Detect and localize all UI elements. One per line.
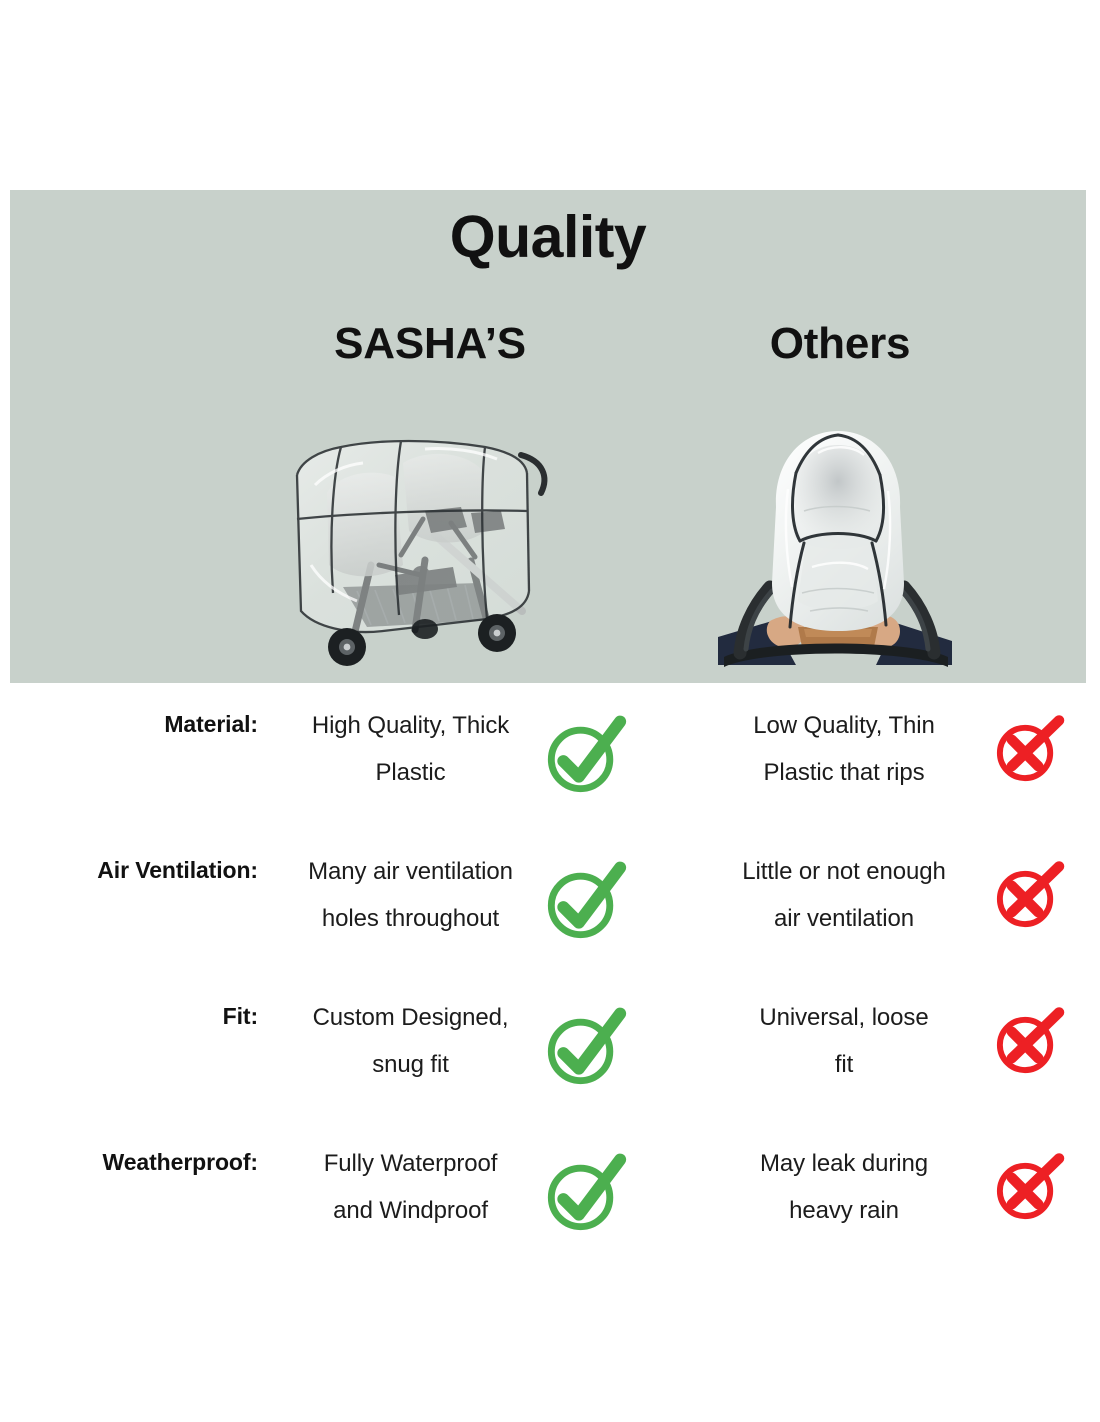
green-check-circle-icon (541, 859, 627, 945)
sashas-stroller-rain-cover-photo (275, 415, 575, 670)
comparison-infographic: Quality SASHA’S Others (0, 0, 1100, 1422)
cell-line-2: snug fit (268, 1042, 553, 1089)
cell-sashas-air-ventilation: Many air ventilation holes throughout (268, 849, 553, 943)
green-check-circle-icon (541, 713, 627, 799)
cell-line-2: and Windproof (268, 1188, 553, 1235)
cell-line-2: fit (700, 1042, 988, 1089)
table-row: Air Ventilation: Many air ventilation ho… (0, 829, 1100, 975)
cell-line-2: Plastic that rips (700, 750, 988, 797)
green-check-circle-icon (541, 1005, 627, 1091)
cell-others-weatherproof: May leak during heavy rain (700, 1141, 988, 1235)
header-panel: Quality SASHA’S Others (10, 190, 1086, 683)
red-x-circle-icon (991, 859, 1065, 933)
cell-sashas-weatherproof: Fully Waterproof and Windproof (268, 1141, 553, 1235)
cell-line-2: holes throughout (268, 896, 553, 943)
row-label-weatherproof: Weatherproof: (0, 1147, 258, 1178)
cell-line-1: Little or not enough (700, 849, 988, 896)
cell-line-2: air ventilation (700, 896, 988, 943)
row-label-fit: Fit: (0, 1001, 258, 1032)
cell-line-1: May leak during (700, 1141, 988, 1188)
cell-others-fit: Universal, loose fit (700, 995, 988, 1089)
cell-others-air-ventilation: Little or not enough air ventilation (700, 849, 988, 943)
cell-line-1: Low Quality, Thin (700, 703, 988, 750)
cell-line-1: Fully Waterproof (268, 1141, 553, 1188)
others-pram-rain-cover-photo (700, 415, 975, 670)
cell-line-1: Many air ventilation (268, 849, 553, 896)
table-row: Material: High Quality, Thick Plastic Lo… (0, 683, 1100, 829)
cell-sashas-fit: Custom Designed, snug fit (268, 995, 553, 1089)
table-row: Weatherproof: Fully Waterproof and Windp… (0, 1121, 1100, 1267)
column-header-others: Others (650, 320, 1030, 368)
red-x-circle-icon (991, 1005, 1065, 1079)
cell-others-material: Low Quality, Thin Plastic that rips (700, 703, 988, 797)
page-title: Quality (10, 207, 1086, 269)
row-label-material: Material: (0, 709, 258, 740)
cell-sashas-material: High Quality, Thick Plastic (268, 703, 553, 797)
cell-line-2: heavy rain (700, 1188, 988, 1235)
green-check-circle-icon (541, 1151, 627, 1237)
cell-line-2: Plastic (268, 750, 553, 797)
red-x-circle-icon (991, 1151, 1065, 1225)
cell-line-1: High Quality, Thick (268, 703, 553, 750)
row-label-air-ventilation: Air Ventilation: (0, 855, 258, 886)
cell-line-1: Universal, loose (700, 995, 988, 1042)
red-x-circle-icon (991, 713, 1065, 787)
column-header-sashas: SASHA’S (240, 320, 620, 368)
comparison-table: Material: High Quality, Thick Plastic Lo… (0, 683, 1100, 1267)
table-row: Fit: Custom Designed, snug fit Universal… (0, 975, 1100, 1121)
cell-line-1: Custom Designed, (268, 995, 553, 1042)
